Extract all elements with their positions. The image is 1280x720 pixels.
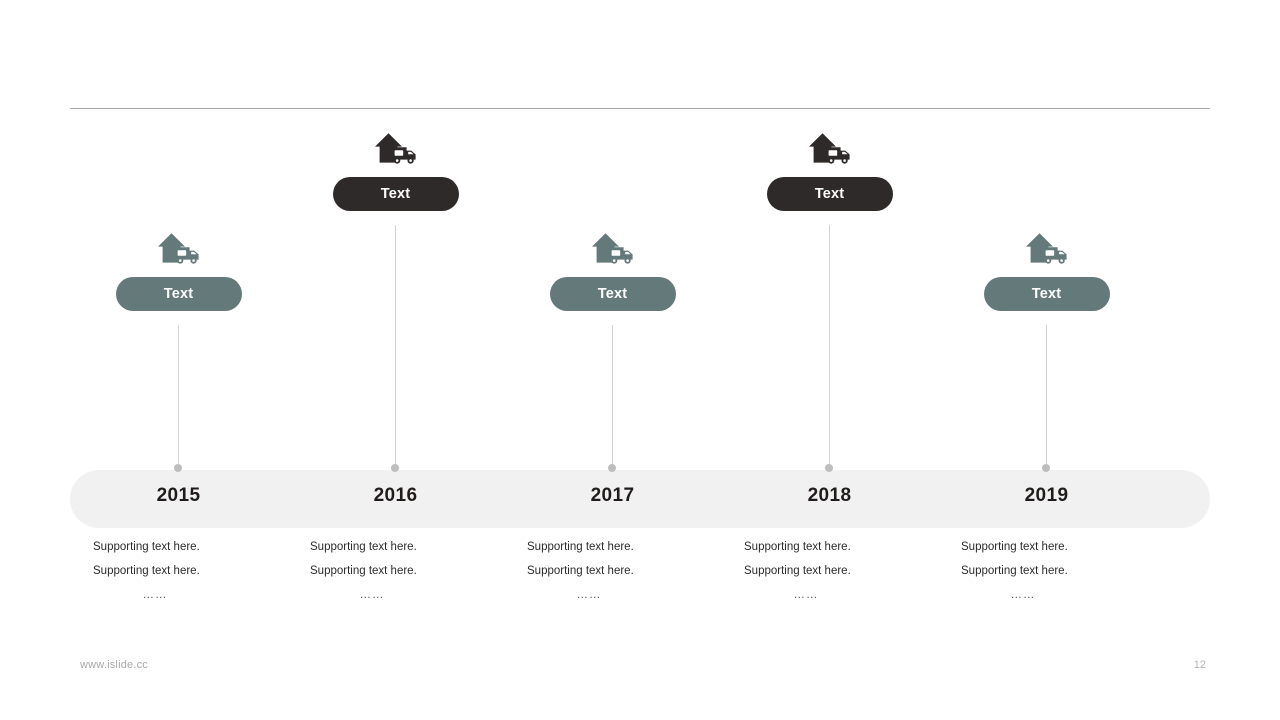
slide-canvas: Text 2015 Supporting text here. Supporti… (0, 0, 1280, 720)
supporting-text-line: Supporting text here. (93, 559, 287, 583)
warehouse-truck-icon (156, 230, 202, 268)
supporting-text-line: Supporting text here. (527, 535, 721, 559)
timeline-node-dot (174, 464, 182, 472)
timeline-node[interactable]: Text (721, 130, 938, 211)
node-connector-line (178, 325, 179, 470)
timeline-year-label: 2015 (70, 485, 287, 507)
supporting-text-line: Supporting text here. (310, 535, 504, 559)
node-connector-line (612, 325, 613, 470)
header-divider (70, 108, 1210, 109)
node-connector-line (829, 225, 830, 470)
supporting-text-ellipsis: …… (310, 589, 434, 601)
timeline-columns: Text 2015 Supporting text here. Supporti… (70, 130, 1210, 610)
footer-url[interactable]: www.islide.cc (80, 659, 148, 671)
node-pill-label[interactable]: Text (116, 277, 242, 311)
timeline-node-dot (1042, 464, 1050, 472)
supporting-text-line: Supporting text here. (527, 559, 721, 583)
timeline-node[interactable]: Text (70, 230, 287, 311)
timeline-column: Text 2017 Supporting text here. Supporti… (504, 130, 721, 610)
timeline-year-label: 2017 (504, 485, 721, 507)
supporting-text-line: Supporting text here. (744, 535, 938, 559)
timeline-year-label: 2019 (938, 485, 1155, 507)
timeline-column: Text 2018 Supporting text here. Supporti… (721, 130, 938, 610)
warehouse-truck-icon (373, 130, 419, 168)
supporting-text-line: Supporting text here. (961, 535, 1155, 559)
supporting-text-block: Supporting text here. Supporting text he… (527, 535, 721, 601)
timeline-node-dot (391, 464, 399, 472)
supporting-text-ellipsis: …… (93, 589, 217, 601)
timeline-node[interactable]: Text (938, 230, 1155, 311)
warehouse-truck-icon (1024, 230, 1070, 268)
timeline-column: Text 2016 Supporting text here. Supporti… (287, 130, 504, 610)
supporting-text-ellipsis: …… (527, 589, 651, 601)
timeline-column: Text 2019 Supporting text here. Supporti… (938, 130, 1155, 610)
page-number: 12 (1176, 659, 1206, 671)
node-pill-label[interactable]: Text (333, 177, 459, 211)
timeline-node-dot (608, 464, 616, 472)
timeline-year-label: 2018 (721, 485, 938, 507)
node-pill-label[interactable]: Text (550, 277, 676, 311)
timeline-node-dot (825, 464, 833, 472)
timeline-node[interactable]: Text (287, 130, 504, 211)
warehouse-truck-icon (807, 130, 853, 168)
supporting-text-block: Supporting text here. Supporting text he… (93, 535, 287, 601)
supporting-text-block: Supporting text here. Supporting text he… (961, 535, 1155, 601)
timeline-year-label: 2016 (287, 485, 504, 507)
supporting-text-ellipsis: …… (744, 589, 868, 601)
timeline-column: Text 2015 Supporting text here. Supporti… (70, 130, 287, 610)
warehouse-truck-icon (590, 230, 636, 268)
supporting-text-line: Supporting text here. (961, 559, 1155, 583)
supporting-text-block: Supporting text here. Supporting text he… (744, 535, 938, 601)
supporting-text-block: Supporting text here. Supporting text he… (310, 535, 504, 601)
node-pill-label[interactable]: Text (767, 177, 893, 211)
timeline-node[interactable]: Text (504, 230, 721, 311)
node-connector-line (395, 225, 396, 470)
supporting-text-ellipsis: …… (961, 589, 1085, 601)
node-connector-line (1046, 325, 1047, 470)
supporting-text-line: Supporting text here. (310, 559, 504, 583)
supporting-text-line: Supporting text here. (744, 559, 938, 583)
supporting-text-line: Supporting text here. (93, 535, 287, 559)
node-pill-label[interactable]: Text (984, 277, 1110, 311)
